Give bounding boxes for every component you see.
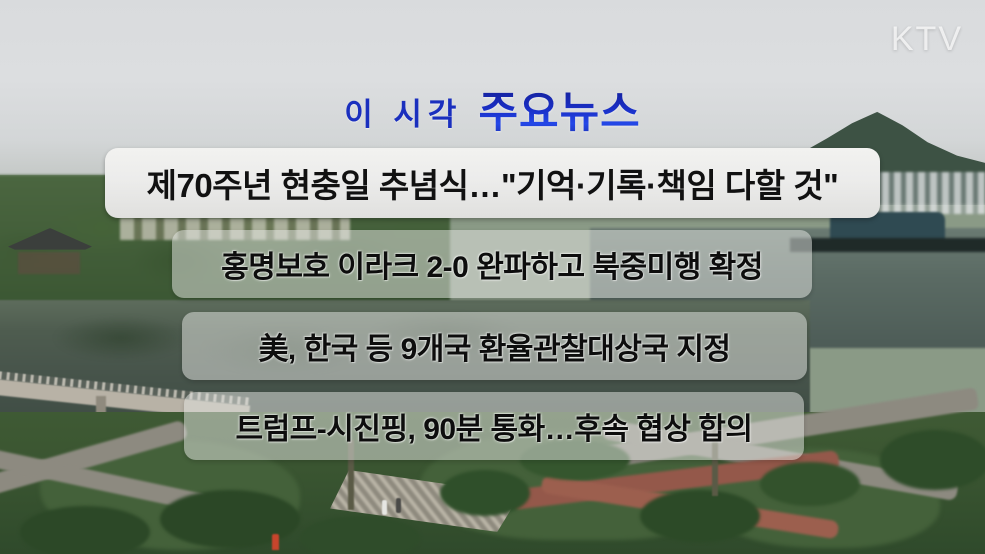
headline-bar-1[interactable]: 홍명보호 이라크 2-0 완파하고 북중미행 확정 [172, 230, 812, 298]
headline-bar-2[interactable]: 美, 한국 등 9개국 환율관찰대상국 지정 [182, 312, 807, 380]
lead-headline-text: 제70주년 현충일 추념식…"기억·기록·책임 다할 것" [147, 159, 839, 207]
shrub-cluster [300, 516, 420, 554]
pedestrian [382, 500, 387, 515]
shrub-cluster [760, 462, 860, 506]
shrub-cluster [20, 506, 150, 554]
lake-causeway [790, 238, 985, 252]
pedestrian [396, 498, 401, 513]
headline-text-3: 트럼프-시진핑, 90분 통화…후속 협상 합의 [235, 404, 752, 448]
headline-text-2: 美, 한국 등 9개국 환율관찰대상국 지정 [258, 324, 730, 368]
shrub-cluster [160, 490, 300, 548]
pavilion-base [18, 252, 80, 274]
program-title-prefix: 이 시각 [344, 97, 462, 132]
shrub-cluster [440, 470, 530, 516]
lead-headline-bar[interactable]: 제70주년 현충일 추념식…"기억·기록·책임 다할 것" [105, 148, 880, 218]
program-title-main: 주요뉴스 [478, 89, 640, 137]
shrub-cluster [640, 490, 760, 542]
shrub-cluster [880, 430, 985, 490]
news-broadcast-frame: KTV 이 시각주요뉴스 제70주년 현충일 추념식…"기억·기록·책임 다할 … [0, 0, 985, 554]
traffic-cone [272, 534, 279, 550]
program-title: 이 시각주요뉴스 [0, 78, 985, 140]
headline-text-1: 홍명보호 이라크 2-0 완파하고 북중미행 확정 [221, 242, 763, 286]
channel-logo-watermark: KTV [891, 20, 963, 59]
headline-bar-3[interactable]: 트럼프-시진핑, 90분 통화…후속 협상 합의 [184, 392, 804, 460]
